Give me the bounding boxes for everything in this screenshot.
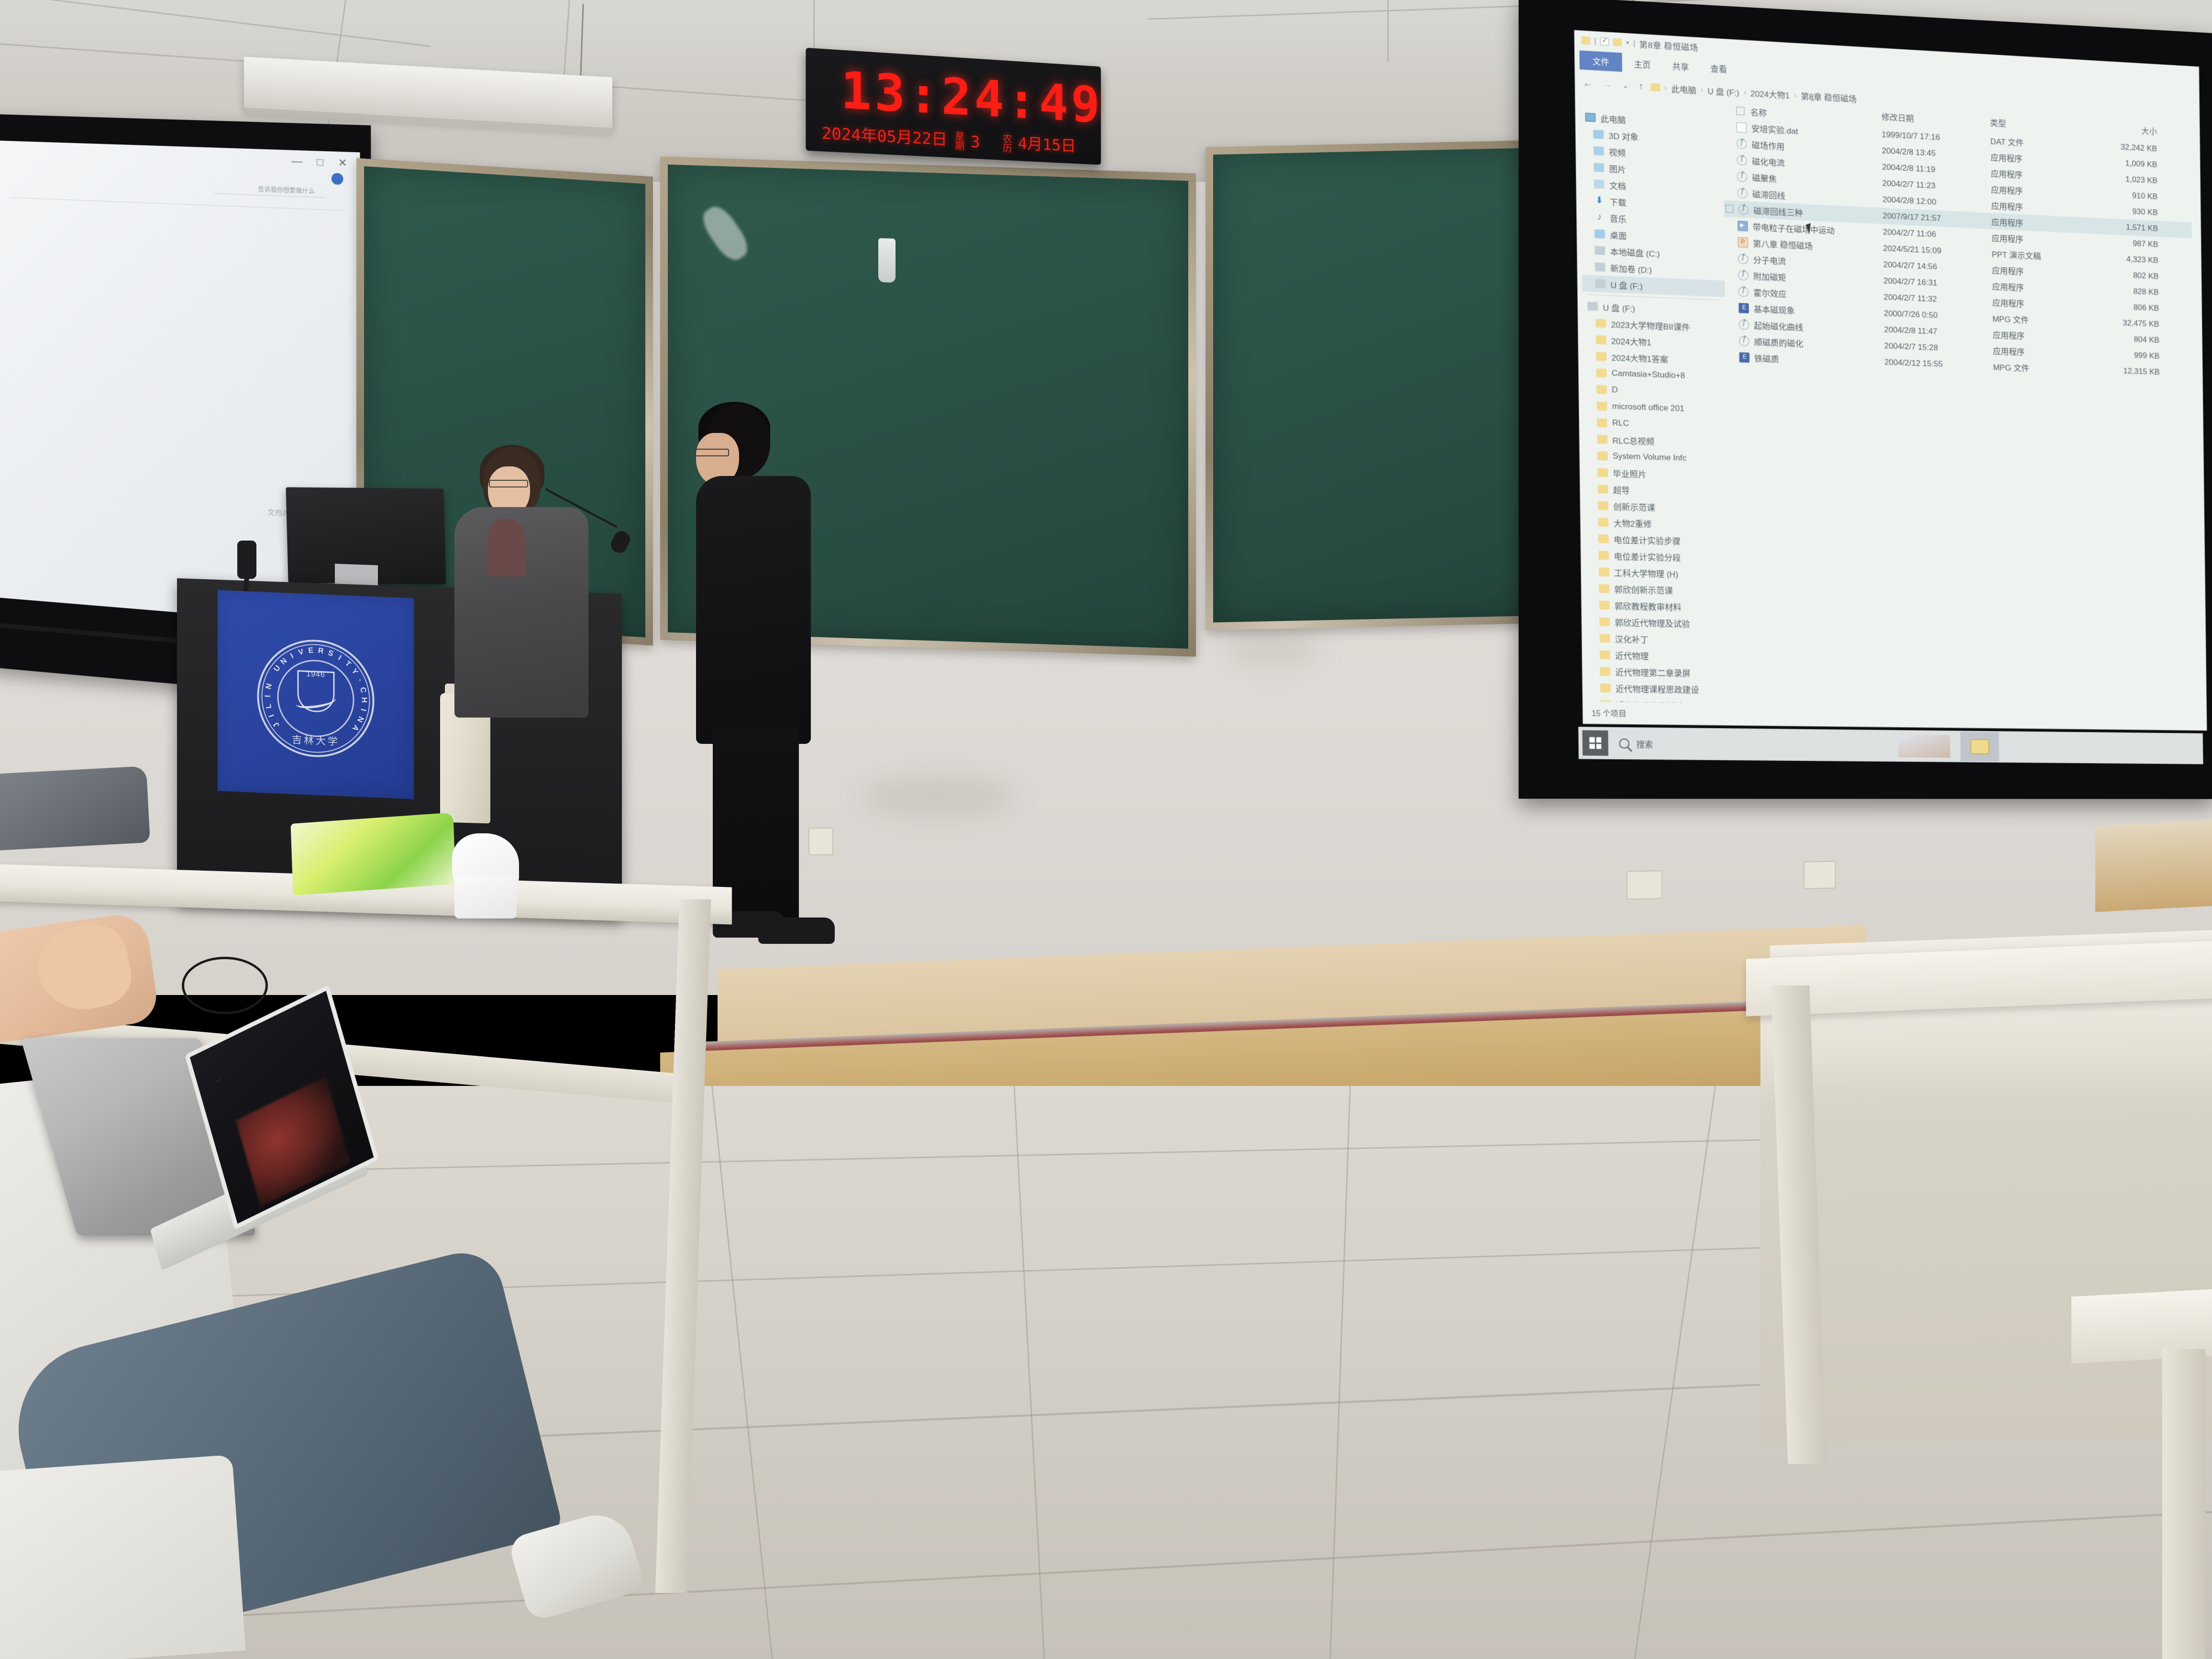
file-name-label: 附加磁矩 (1753, 269, 1786, 283)
mpg-file-icon (1739, 352, 1750, 363)
nav-item-label: 桌面 (1610, 228, 1626, 241)
folder-icon (1600, 651, 1610, 660)
drive-icon (1595, 263, 1605, 272)
exe-file-icon (1737, 188, 1747, 198)
folder-icon (1598, 518, 1609, 527)
drive-icon (1595, 279, 1605, 288)
teacher-glasses (489, 480, 528, 487)
folder-icon (1597, 418, 1607, 427)
3d-objects-icon (1593, 130, 1604, 139)
clock-lunar-label: 农历 (1002, 133, 1012, 153)
file-name-label: 安培实验.dat (1751, 122, 1798, 136)
seal-chinese-name: 吉林大学 (292, 732, 340, 749)
exe-file-icon (1738, 204, 1749, 215)
wall-socket-2 (1803, 861, 1836, 889)
breadcrumb-course-folder[interactable]: 2024大物1 (1750, 87, 1790, 101)
nav-item-label: 近代物理课程思政建设 (1615, 682, 1699, 696)
lectern-front-panel: 1946 JILIN UNIVERSITY·CHINA 吉林大学 (218, 590, 414, 799)
maximize-icon[interactable]: □ (317, 156, 323, 169)
file-date-cell: 2004/2/8 13:45 (1882, 146, 1991, 161)
videos-icon (1593, 146, 1604, 155)
nav-item-label: 下载 (1609, 195, 1626, 208)
exe-file-icon (1737, 171, 1747, 182)
file-date-cell: 2004/2/7 15:28 (1884, 341, 1993, 354)
foreground-right-desk-body (1760, 957, 2212, 1444)
tell-me-placeholder: 告诉我你想要做什么 (258, 184, 315, 195)
breadcrumb-sep: › (1744, 88, 1746, 96)
folder-icon (1599, 567, 1609, 576)
taskbar-search[interactable]: 搜索 (1619, 737, 1653, 750)
file-date-cell: 1999/10/7 17:16 (1881, 130, 1990, 145)
file-size-cell: 806 KB (2085, 301, 2159, 313)
recent-locations-chevron-down-icon[interactable]: ⌄ (1622, 81, 1628, 90)
file-size-cell: 828 KB (2085, 285, 2159, 297)
downloads-icon: ⬇ (1594, 196, 1604, 205)
folder-icon (1596, 352, 1606, 361)
folder-icon (1970, 739, 1990, 754)
file-date-cell: 2024/5/21 15:09 (1883, 243, 1991, 258)
address-nav-buttons[interactable]: ← → ⌄ ↑ (1583, 77, 1644, 92)
snack-bag (290, 812, 455, 895)
nav-item-label: 视频 (1609, 145, 1626, 158)
nav-item-label: 此电脑 (1601, 112, 1626, 125)
nav-item-label: 超导 (1613, 483, 1630, 496)
student-body (696, 476, 811, 744)
file-date-cell: 2007/9/17 21:57 (1882, 211, 1991, 226)
weather-widget[interactable] (1898, 734, 1950, 758)
file-type-cell: 应用程序 (1991, 231, 2085, 247)
nav-item-郭欣近代物理及试验[interactable]: 郭欣近代物理及试验 (1586, 613, 1729, 632)
nav-item-label: 图片 (1609, 162, 1626, 175)
pc-icon (1585, 113, 1596, 122)
jacket-on-chair (0, 766, 150, 851)
file-name-label: 顺磁质的磁化 (1754, 335, 1803, 349)
file-size-cell: 930 KB (2084, 205, 2158, 218)
nav-item-label: 电位差计实验分段 (1614, 550, 1681, 564)
nav-item-label: 3D 对象 (1609, 129, 1639, 143)
nav-item-label: System Volume Infc (1613, 452, 1687, 464)
file-size-cell: 12,315 KB (2086, 365, 2160, 377)
minimize-icon[interactable]: — (291, 155, 302, 168)
board-clip (878, 238, 896, 283)
nav-item-label: 文档 (1609, 178, 1626, 191)
wooden-stool (2095, 819, 2212, 912)
document-rule (11, 198, 345, 211)
teacher-scarf (487, 519, 525, 576)
nav-item-近代物理录屏材料[interactable]: 近代物理录屏材料 (1587, 696, 1730, 703)
student-shoe-right (758, 918, 835, 944)
nav-item-近代物理第二章录屏[interactable]: 近代物理第二章录屏 (1587, 663, 1729, 682)
nav-item-label: 新加卷 (D:) (1610, 262, 1652, 276)
file-name-label: 铁磁质 (1754, 352, 1779, 365)
quick-access-properties-icon[interactable] (1600, 37, 1609, 45)
quick-access-new-folder-icon[interactable] (1613, 38, 1622, 46)
nav-item-label: 汉化补丁 (1615, 632, 1648, 645)
folder-icon (1598, 485, 1608, 494)
laptop-screen-text: ··· (215, 1077, 222, 1085)
foreground-chair (0, 1455, 246, 1659)
file-type-cell: 应用程序 (1992, 280, 2085, 296)
blackboard-right (1206, 140, 1550, 630)
jilin-university-seal: 1946 JILIN UNIVERSITY·CHINA 吉林大学 (257, 638, 375, 760)
file-explorer-window[interactable]: | ▾ | 第8章 稳恒磁场 文件 主页 共享 查看 ← → ⌄ ↑ (1574, 30, 2207, 730)
nav-item-label: 电位差计实验步骤 (1614, 533, 1681, 547)
documents-icon (1594, 179, 1604, 188)
file-type-cell: 应用程序 (1991, 151, 2084, 167)
file-type-cell: 应用程序 (1991, 215, 2085, 232)
file-type-cell: 应用程序 (1993, 344, 2086, 360)
file-type-cell: 应用程序 (1992, 328, 2086, 343)
file-name-label: 起始磁化曲线 (1754, 319, 1803, 332)
nav-item-label: 郭欣近代物理及试验 (1615, 616, 1690, 629)
nav-item-label: 2024大物1答案 (1611, 351, 1668, 365)
account-avatar[interactable] (332, 173, 343, 185)
ppt-file-icon (1738, 237, 1748, 247)
file-type-cell: 应用程序 (1991, 166, 2084, 183)
nav-item-label: 毕业照片 (1613, 467, 1646, 480)
file-date-cell: 2004/2/8 12:00 (1882, 195, 1991, 210)
file-size-cell: 804 KB (2086, 333, 2159, 345)
folder-icon (1600, 667, 1611, 676)
close-icon[interactable]: ✕ (338, 156, 347, 169)
desktop-icon (1594, 229, 1605, 238)
file-type-cell: 应用程序 (1992, 296, 2086, 311)
folder-icon (1600, 700, 1611, 703)
file-date-cell: 2004/2/7 11:06 (1883, 227, 1991, 242)
digital-wall-clock: 13:24:49 2024年05月22日 星期 3 农历 4月15日 (806, 48, 1101, 165)
tell-me-search[interactable]: 告诉我你想要做什么 (214, 181, 326, 198)
file-size-cell: 1,009 KB (2084, 156, 2157, 170)
file-name-label: 磁滞回线三种 (1753, 204, 1803, 218)
folder-icon (1599, 584, 1609, 593)
file-name-label: 磁化电流 (1752, 155, 1785, 168)
nav-item-label: 2023大学物理BII课件 (1611, 318, 1690, 333)
file-size-cell: 802 KB (2085, 269, 2158, 281)
folder-icon (1596, 335, 1606, 344)
file-date-cell: 2004/2/7 14:56 (1883, 260, 1992, 274)
breadcrumb-this-pc[interactable]: 此电脑 (1671, 82, 1696, 96)
file-date-cell: 2004/2/8 11:47 (1884, 325, 1992, 339)
file-name-label: 基本磁现象 (1754, 302, 1795, 316)
dat-file-icon (1736, 122, 1747, 133)
file-name-label: 第八章 稳恒磁场 (1753, 237, 1813, 252)
breadcrumb-sep: › (1664, 84, 1667, 92)
up-icon[interactable]: ↑ (1638, 81, 1644, 92)
exe-file-icon (1739, 335, 1749, 346)
folder-icon (1599, 617, 1610, 626)
folder-icon (1597, 435, 1607, 444)
search-icon (1619, 738, 1629, 749)
file-date-cell: 2004/2/7 11:23 (1882, 178, 1991, 193)
right-desk-leg-2 (2162, 1349, 2205, 1659)
file-checkbox[interactable] (1725, 205, 1733, 213)
exe-file-icon (1736, 138, 1747, 149)
classroom-scene: — □ ✕ 告诉我你想要做什么 文档内容区域 13:24:49 2024年05月… (0, 0, 2212, 1659)
exe-file-icon (1739, 319, 1749, 330)
file-date-cell: 2004/2/12 15:55 (1884, 357, 1993, 371)
video-file-icon (1737, 221, 1748, 231)
folder-icon (1600, 684, 1611, 693)
nav-item-近代物理[interactable]: 近代物理 (1587, 646, 1729, 665)
file-date-cell: 2004/2/7 11:32 (1883, 292, 1992, 306)
exe-file-icon (1738, 270, 1749, 280)
clock-weekday: 3 (971, 133, 980, 152)
folder-icon (1597, 468, 1608, 477)
file-size-cell: 1,023 KB (2084, 173, 2157, 186)
file-name-label: 磁聚焦 (1752, 171, 1777, 184)
file-type-cell: PPT 演示文稿 (1991, 247, 2085, 263)
file-name-label: 带电粒子在磁场中运动 (1753, 220, 1835, 236)
file-size-cell: 32,475 KB (2086, 317, 2159, 329)
folder-icon (1596, 368, 1607, 377)
quick-access-folder-icon[interactable] (1581, 36, 1590, 44)
nav-item-汉化补丁[interactable]: 汉化补丁 (1587, 630, 1729, 648)
chalk-smear (697, 201, 753, 265)
file-size-cell: 32,242 KB (2083, 141, 2157, 154)
sort-ascending-icon[interactable]: ⌃ (1810, 98, 1816, 107)
music-icon: ♪ (1594, 213, 1605, 222)
nav-item-label: microsoft office 201 (1612, 402, 1684, 414)
nav-item-郭欣创新示范课[interactable]: 郭欣创新示范课 (1586, 580, 1728, 599)
select-all-checkbox[interactable] (1736, 107, 1744, 115)
wall-socket-3 (808, 828, 833, 855)
student-glasses (695, 449, 729, 456)
explorer-navigation-pane[interactable]: 此电脑3D 对象视频图片文档⬇下载♪音乐桌面本地磁盘 (C:)新加卷 (D:)U… (1580, 109, 1730, 703)
breadcrumb-folder-icon (1650, 83, 1660, 91)
ribbon-tab-view[interactable]: 查看 (1701, 59, 1737, 78)
explorer-window-title: 第8章 稳恒磁场 (1639, 37, 1699, 53)
folder-icon (1597, 452, 1608, 461)
nav-item-label: 创新示范课 (1613, 500, 1655, 513)
breadcrumb-usb-drive[interactable]: U 盘 (F:) (1707, 84, 1739, 98)
ribbon-tab-home[interactable]: 主页 (1624, 55, 1661, 74)
nav-item-label: 郭欣教程教审材料 (1615, 599, 1681, 613)
file-date-cell: 2000/7/26 0:50 (1884, 309, 1992, 322)
breadcrumb-sep: › (1794, 91, 1796, 99)
drive-icon (1587, 302, 1598, 311)
folder-icon (1598, 501, 1608, 510)
nav-item-郭欣教程教审材料[interactable]: 郭欣教程教审材料 (1586, 597, 1729, 616)
nav-item-label: U 盘 (F:) (1603, 300, 1636, 314)
nav-item-label: 近代物理 (1615, 649, 1648, 662)
nav-item-label: U 盘 (F:) (1610, 278, 1643, 291)
column-header-name-label: 名称 (1750, 105, 1767, 118)
nav-item-label: 近代物理第二章录屏 (1615, 665, 1691, 679)
exe-file-icon (1738, 286, 1749, 297)
file-size-cell: 910 KB (2084, 188, 2157, 201)
breadcrumb-sep: › (1701, 86, 1703, 94)
quick-access-chevron-down-icon[interactable]: ▾ (1626, 39, 1629, 47)
ribbon-tab-file[interactable]: 文件 (1580, 50, 1622, 72)
clock-lunar-date: 4月15日 (1018, 131, 1076, 156)
breadcrumb[interactable]: › 此电脑 › U 盘 (F:) › 2024大物1 › 第8章 稳恒磁场 (1650, 81, 1857, 104)
explorer-file-list[interactable]: 安培实验.dat1999/10/7 17:16DAT 文件32,242 KB磁场… (1723, 118, 2198, 709)
folder-icon (1599, 551, 1609, 560)
folder-icon (1599, 601, 1610, 610)
back-icon[interactable]: ← (1583, 77, 1593, 89)
ribbon-tab-share[interactable]: 共享 (1662, 56, 1699, 76)
microphone-head (237, 541, 256, 579)
file-name-label: 分子电流 (1753, 253, 1786, 266)
nav-item-label: 音乐 (1610, 212, 1626, 225)
mpg-file-icon (1738, 303, 1749, 313)
file-date-cell: 2004/2/8 11:19 (1882, 162, 1991, 177)
nav-item-label: RLC (1612, 418, 1629, 428)
folder-icon (1595, 319, 1606, 328)
exe-file-icon (1737, 155, 1747, 166)
file-name-label: 霍尔效应 (1753, 286, 1786, 299)
folder-icon (1600, 634, 1610, 643)
nav-item-label: 工科大学物理 (H) (1614, 566, 1678, 579)
nav-item-label: 大物2重修 (1614, 517, 1652, 530)
file-type-cell: DAT 文件 (1990, 134, 2083, 151)
file-size-cell: 4,323 KB (2085, 253, 2158, 265)
folder-icon (1596, 385, 1607, 394)
nav-item-label: RLC总视频 (1613, 433, 1655, 447)
file-name-cell[interactable]: 铁磁质 (1725, 351, 1884, 368)
taskbar-search-placeholder: 搜索 (1637, 737, 1653, 750)
windows-taskbar[interactable]: 搜索 (1578, 727, 2203, 764)
start-button[interactable] (1582, 730, 1609, 756)
folder-icon (1597, 402, 1607, 411)
nav-item-label: Camtasia+Studio+8 (1612, 368, 1685, 381)
file-type-cell: 应用程序 (1991, 199, 2084, 215)
file-size-cell: 999 KB (2086, 349, 2159, 361)
file-size-cell: 1,571 KB (2084, 221, 2158, 233)
file-size-cell: 987 KB (2085, 237, 2158, 250)
file-type-cell: MPG 文件 (1992, 312, 2086, 327)
nav-item-近代物理课程思政建设[interactable]: 近代物理课程思政建设 (1587, 679, 1730, 697)
right-projection-screen: | ▾ | 第8章 稳恒磁场 文件 主页 共享 查看 ← → ⌄ ↑ (1519, 0, 2212, 799)
wall-socket (1626, 870, 1662, 899)
clock-weekday-label: 星期 (954, 131, 964, 151)
file-type-cell: 应用程序 (1992, 264, 2085, 279)
pictures-icon (1593, 163, 1604, 172)
nav-item-label: 近代物理录屏材料 (1615, 699, 1682, 704)
taskbar-file-explorer-button[interactable] (1960, 732, 1999, 762)
folder-icon (1598, 534, 1609, 543)
windows-logo-icon (1589, 737, 1601, 749)
nav-item-label: 2024大物1 (1611, 334, 1651, 348)
nav-item-label: 郭欣创新示范课 (1614, 583, 1673, 596)
file-type-cell: 应用程序 (1991, 183, 2084, 199)
item-count-label: 15 个项目 (1592, 707, 1626, 719)
nav-item-label: D (1612, 385, 1618, 395)
file-name-label: 磁滞回线 (1752, 188, 1785, 201)
forward-icon[interactable]: → (1603, 79, 1613, 91)
nav-item-label: 本地磁盘 (C:) (1610, 245, 1660, 259)
file-name-label: 磁场作用 (1752, 138, 1785, 152)
file-type-cell: MPG 文件 (1993, 360, 2086, 376)
exe-file-icon (1738, 254, 1748, 264)
tissue-holder (454, 875, 517, 918)
drive-icon (1595, 246, 1605, 255)
left-window-controls[interactable]: — □ ✕ (291, 155, 347, 169)
file-date-cell: 2004/2/7 16:31 (1883, 276, 1992, 290)
